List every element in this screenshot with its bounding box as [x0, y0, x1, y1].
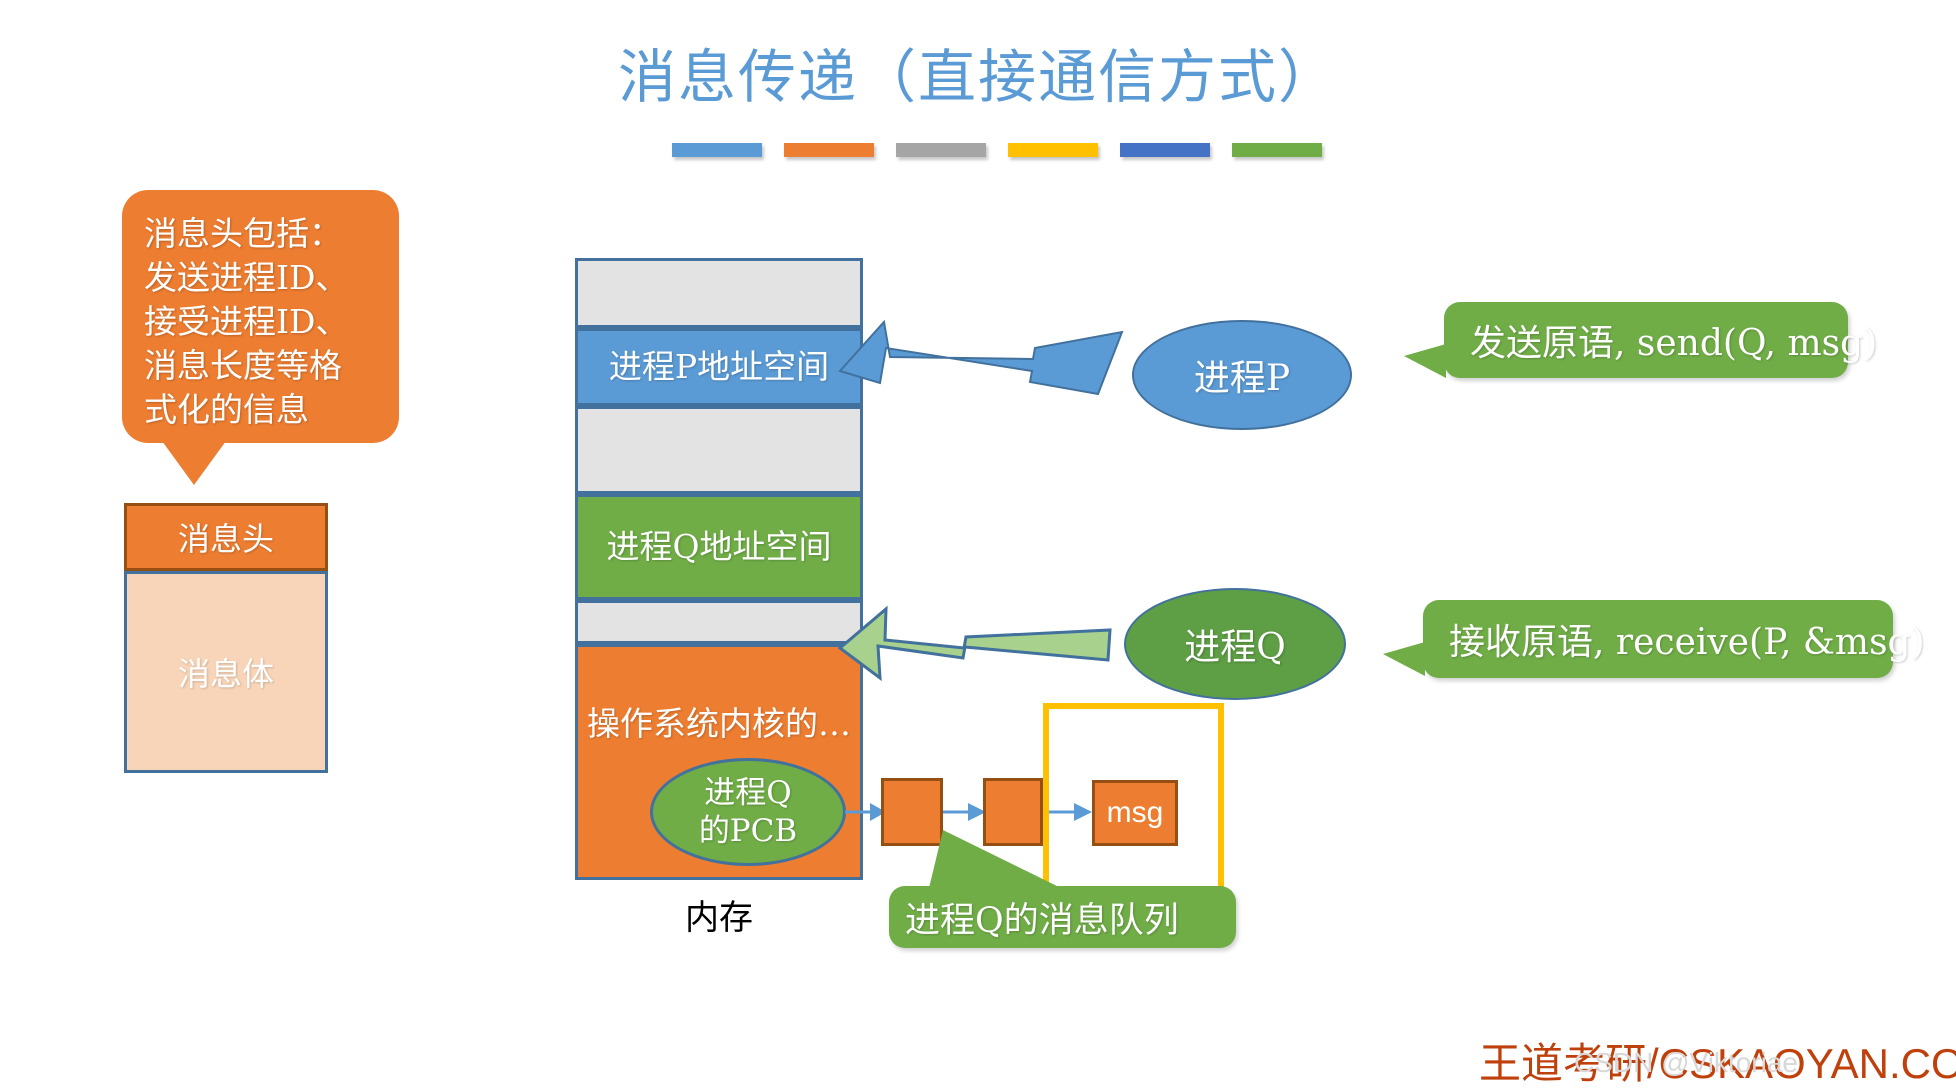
- memory-block-free-top: [575, 258, 863, 328]
- bar-orange: [784, 143, 874, 157]
- callout-line-4: 消息长度等格: [144, 344, 381, 388]
- message-header-callout: 消息头包括： 发送进程ID、 接受进程ID、 消息长度等格 式化的信息: [122, 190, 399, 443]
- message-head-box: 消息头: [124, 503, 328, 571]
- callout-line-1: 消息头包括：: [144, 212, 381, 256]
- callout-tail: [162, 441, 226, 485]
- pcb-line-2: 的PCB: [699, 812, 797, 850]
- bar-blue: [672, 143, 762, 157]
- message-queue-label: 进程Q的消息队列: [905, 892, 1179, 943]
- queue-box-msg: msg: [1092, 780, 1178, 846]
- message-body-box: 消息体: [124, 571, 328, 773]
- receive-block-arrow: [840, 609, 1110, 678]
- message-queue-callout: 进程Q的消息队列: [889, 886, 1236, 948]
- memory-caption: 内存: [575, 890, 863, 939]
- memory-block-process-p: 进程P地址空间: [575, 328, 863, 406]
- send-block-arrow: [840, 322, 1122, 394]
- slide-canvas: 消息传递（直接通信方式） 消息头包括： 发送进程ID、 接受进程ID、 消息长度…: [0, 0, 1956, 1090]
- process-q-ellipse: 进程Q: [1124, 588, 1346, 700]
- callout-line-2: 发送进程ID、: [144, 256, 381, 300]
- callout-line-3: 接受进程ID、: [144, 300, 381, 344]
- csdn-watermark: CSDN @Viktoriae: [1574, 1047, 1798, 1079]
- bar-gray: [896, 143, 986, 157]
- send-primitive-label: 发送原语, send(Q, msg): [1470, 314, 1877, 366]
- memory-block-free-low: [575, 600, 863, 644]
- page-title: 消息传递（直接通信方式）: [0, 30, 1956, 114]
- send-callout-tail: [1404, 344, 1446, 378]
- bar-green: [1232, 143, 1322, 157]
- decorative-bar-row: [672, 143, 1322, 157]
- queue-callout-tail: [929, 830, 1061, 888]
- process-p-ellipse: 进程P: [1132, 320, 1352, 430]
- receive-primitive-callout: 接收原语, receive(P, &msg): [1423, 600, 1893, 678]
- receive-callout-tail: [1383, 642, 1425, 676]
- bar-yellow: [1008, 143, 1098, 157]
- memory-block-process-q: 进程Q地址空间: [575, 494, 863, 600]
- pcb-line-1: 进程Q: [704, 774, 791, 812]
- bar-navy: [1120, 143, 1210, 157]
- process-q-pcb: 进程Q 的PCB: [650, 758, 846, 866]
- callout-line-5: 式化的信息: [144, 388, 381, 432]
- memory-block-free-mid: [575, 406, 863, 494]
- send-primitive-callout: 发送原语, send(Q, msg): [1444, 302, 1848, 378]
- receive-primitive-label: 接收原语, receive(P, &msg): [1449, 613, 1925, 665]
